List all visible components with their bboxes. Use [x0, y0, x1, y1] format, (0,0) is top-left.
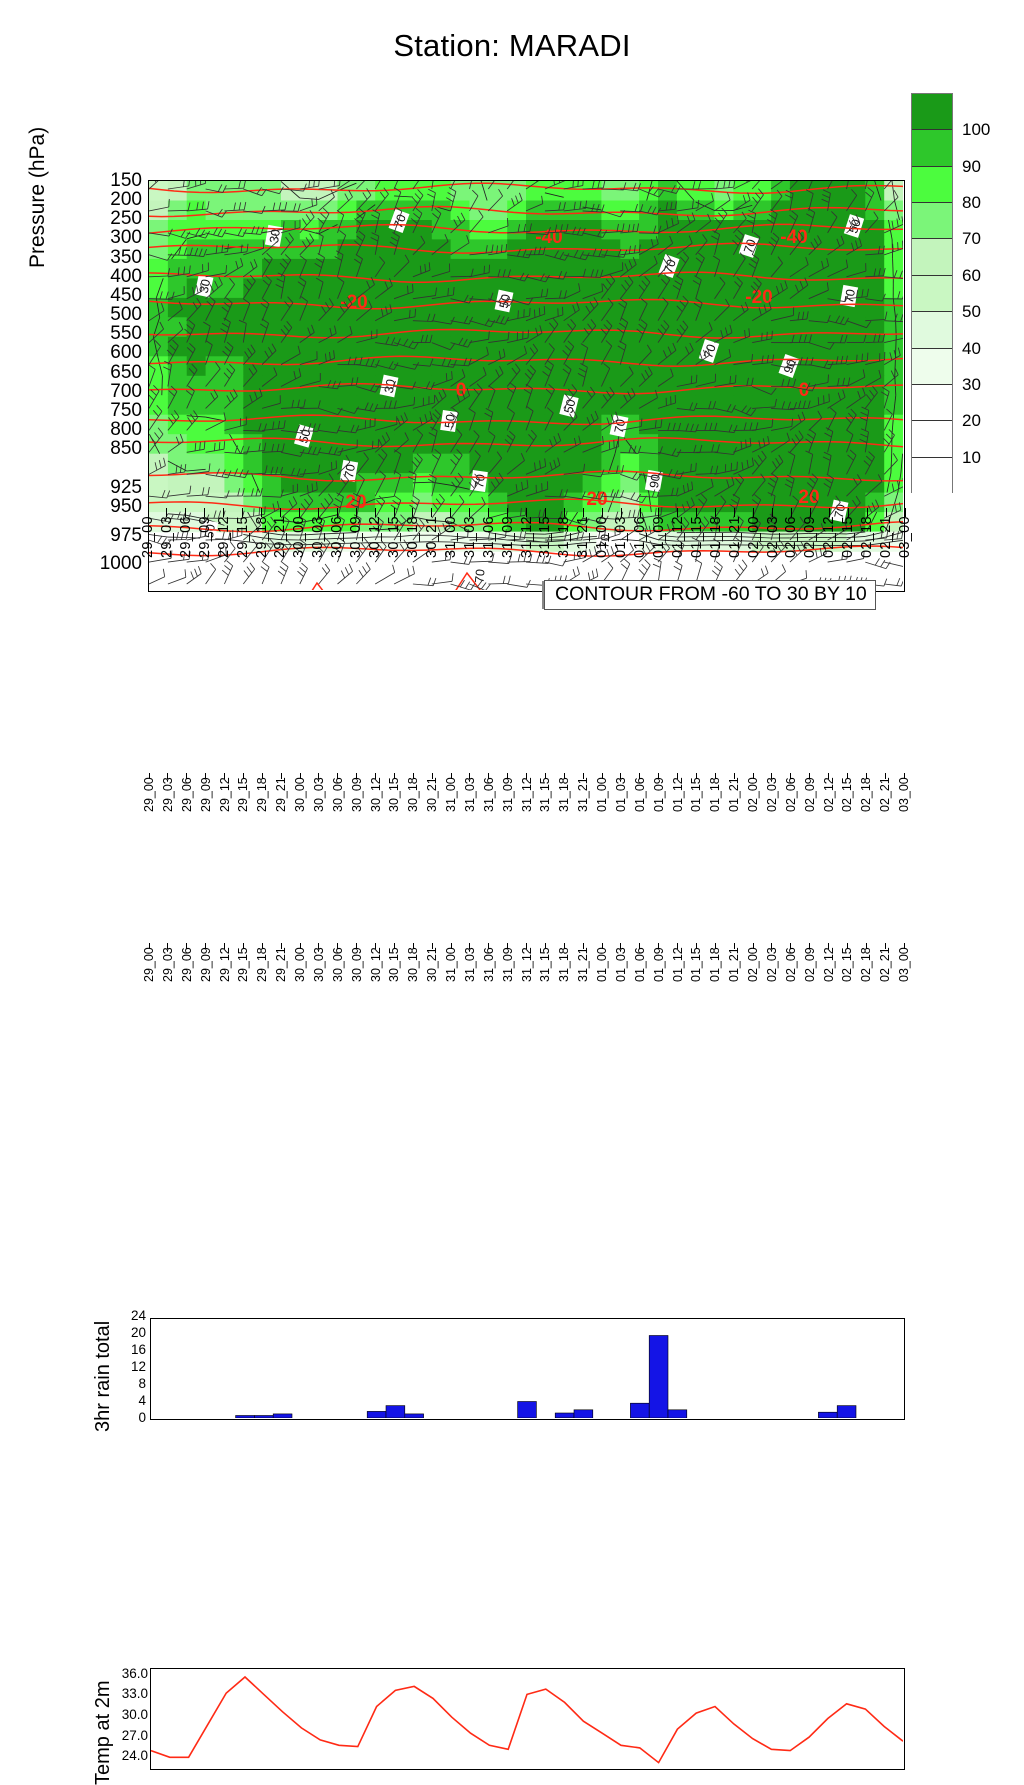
xsec-xtick-31_09: 31_09	[501, 508, 515, 559]
tick-label: 01_09	[652, 800, 666, 812]
tick-label: 30_09	[350, 970, 364, 982]
rain-xtick-02_12: 02_12	[823, 773, 835, 813]
colorbar-band-8	[912, 385, 952, 421]
tick-label: 03_00	[897, 970, 911, 982]
tick-label: 30_21	[425, 800, 439, 812]
rain-xtick-29_09: 29_09	[200, 773, 212, 813]
tick-label: 31_15	[538, 970, 552, 982]
rain-xtick-29_18: 29_18	[256, 773, 268, 813]
tick-label: 01_12	[671, 800, 685, 812]
temp-xtick-31_18: 31_18	[558, 943, 570, 983]
colorbar-band-0	[912, 94, 952, 130]
temp-xtick-02_09: 02_09	[804, 943, 816, 983]
colorbar-band-3	[912, 203, 952, 239]
rain-ytick-8: 8	[138, 1377, 146, 1391]
tick-label: 31_18	[557, 800, 571, 812]
xsec-xtick-02_00: 02_00	[747, 508, 761, 559]
pressure-tick-250: 250	[110, 209, 142, 228]
temp-xtick-30_09: 30_09	[351, 943, 363, 983]
xsec-xtick-01_18: 01_18	[709, 508, 723, 559]
tick-label: 01_03	[614, 800, 628, 812]
tick-label: 01_00	[595, 970, 609, 982]
temp-xtick-02_06: 02_06	[785, 943, 797, 983]
xsec-xtick-30_03: 30_03	[311, 508, 325, 559]
contour-caption: CONTOUR FROM -60 TO 30 BY 10	[544, 580, 876, 610]
svg-text:70: 70	[612, 418, 629, 435]
rain-xtick-31_00: 31_00	[445, 773, 457, 813]
xsec-xtick-30_12: 30_12	[368, 508, 382, 559]
pressure-tick-400: 400	[110, 267, 142, 286]
rain-xtick-02_18: 02_18	[860, 773, 872, 813]
tick-label: 02_06	[783, 544, 799, 558]
colorbar-label-10: 10	[962, 449, 981, 466]
rain-xtick-31_03: 31_03	[464, 773, 476, 813]
temp-xtick-02_00: 02_00	[747, 943, 759, 983]
rain-xtick-30_03: 30_03	[313, 773, 325, 813]
tick-label: 30_09	[348, 544, 364, 558]
tick-label: 02_18	[859, 800, 873, 812]
temp-xtick-30_00: 30_00	[294, 943, 306, 983]
xsec-xtick-01_15: 01_15	[690, 508, 704, 559]
rain-xtick-02_09: 02_09	[804, 773, 816, 813]
tick-label: 29_18	[255, 800, 269, 812]
rain-tick-labels: 24201612840	[110, 1316, 146, 1420]
temp-xtick-01_18: 01_18	[709, 943, 721, 983]
tick-label: 01_15	[689, 544, 705, 558]
rain-xtick-02_15: 02_15	[841, 773, 853, 813]
temp-xtick-29_06: 29_06	[181, 943, 193, 983]
temp-tick-labels: 36.033.030.027.024.0	[104, 1668, 148, 1772]
temp-xtick-02_12: 02_12	[823, 943, 835, 983]
rain-xtick-30_15: 30_15	[388, 773, 400, 813]
temp-xtick-01_21: 01_21	[728, 943, 740, 983]
xsec-xtick-02_15: 02_15	[841, 508, 855, 559]
colorbar-label-50: 50	[962, 303, 981, 320]
xsec-xtick-29_18: 29_18	[255, 508, 269, 559]
colorbar-label-100: 100	[962, 121, 990, 138]
colorbar-band-5	[912, 276, 952, 312]
pressure-tick-600: 600	[110, 343, 142, 362]
temp-xtick-29_09: 29_09	[200, 943, 212, 983]
colorbar-label-70: 70	[962, 230, 981, 247]
tick-label: 02_12	[822, 970, 836, 982]
temp-xtick-02_18: 02_18	[860, 943, 872, 983]
temp-xtick-30_21: 30_21	[426, 943, 438, 983]
rain-ytick-16: 16	[131, 1343, 146, 1357]
tick-label: 31_06	[481, 544, 497, 558]
temp-x-tick-labels: 29_0029_0329_0629_0929_1229_1529_1829_21…	[150, 943, 905, 1001]
colorbar	[911, 93, 953, 493]
colorbar-band-9	[912, 421, 952, 457]
tick-label: 30_15	[387, 970, 401, 982]
rain-xtick-30_12: 30_12	[370, 773, 382, 813]
tick-label: 01_00	[594, 544, 610, 558]
temp-xtick-31_15: 31_15	[539, 943, 551, 983]
svg-text:50: 50	[442, 413, 458, 429]
rain-xtick-02_00: 02_00	[747, 773, 759, 813]
tick-label: 30_06	[331, 970, 345, 982]
rain-xtick-31_09: 31_09	[502, 773, 514, 813]
tick-label: 30_06	[329, 544, 345, 558]
xsec-xtick-01_12: 01_12	[671, 508, 685, 559]
chart-page: Station: MARADI Pressure (hPa) 150200250…	[0, 0, 1024, 1024]
tick-label: 29_06	[180, 970, 194, 982]
tick-label: 02_15	[840, 800, 854, 812]
colorbar-band-4	[912, 239, 952, 275]
tick-label: 01_06	[632, 544, 648, 558]
temp-xtick-01_03: 01_03	[615, 943, 627, 983]
tick-label: 30_12	[369, 800, 383, 812]
tick-label: 30_15	[387, 800, 401, 812]
tick-label: 31_09	[501, 970, 515, 982]
tick-label: 29_00	[142, 800, 156, 812]
tick-label: 02_12	[822, 800, 836, 812]
tick-label: 01_12	[671, 970, 685, 982]
pressure-tick-800: 800	[110, 420, 142, 439]
xsec-xtick-31_18: 31_18	[557, 508, 571, 559]
temp-xtick-31_03: 31_03	[464, 943, 476, 983]
tick-label: 31_18	[557, 970, 571, 982]
tick-label: 02_15	[840, 544, 856, 558]
tick-label: 02_06	[784, 970, 798, 982]
xsec-xtick-29_12: 29_12	[217, 508, 231, 559]
xsec-xtick-30_18: 30_18	[406, 508, 420, 559]
pressure-tick-750: 750	[110, 401, 142, 420]
rain-xtick-02_21: 02_21	[879, 773, 891, 813]
xsec-xtick-02_03: 02_03	[766, 508, 780, 559]
temp-xtick-01_15: 01_15	[690, 943, 702, 983]
rain-xtick-29_12: 29_12	[219, 773, 231, 813]
tick-label: 31_18	[556, 544, 572, 558]
temp-ytick-33.0: 33.0	[122, 1687, 148, 1701]
tick-label: 01_21	[727, 970, 741, 982]
rain-xtick-29_15: 29_15	[237, 773, 249, 813]
xsec-xtick-31_12: 31_12	[520, 508, 534, 559]
tick-label: 30_03	[310, 544, 326, 558]
rain-xtick-01_12: 01_12	[672, 773, 684, 813]
tick-label: 30_18	[405, 544, 421, 558]
temp-xtick-29_18: 29_18	[256, 943, 268, 983]
tick-label: 29_00	[140, 544, 156, 558]
tick-label: 31_15	[538, 800, 552, 812]
rain-xtick-03_00: 03_00	[898, 773, 910, 813]
rain-xtick-29_21: 29_21	[275, 773, 287, 813]
temp-xtick-30_03: 30_03	[313, 943, 325, 983]
temp-xtick-29_00: 29_00	[143, 943, 155, 983]
tick-label: 01_09	[651, 544, 667, 558]
tick-label: 30_12	[367, 544, 383, 558]
temp-xtick-30_18: 30_18	[407, 943, 419, 983]
tick-label: 30_12	[369, 970, 383, 982]
pressure-tick-650: 650	[110, 363, 142, 382]
xsec-xtick-01_06: 01_06	[633, 508, 647, 559]
tick-label: 01_21	[727, 544, 743, 558]
tick-label: 03_00	[897, 800, 911, 812]
tick-label: 29_12	[218, 970, 232, 982]
tick-label: 02_09	[802, 544, 818, 558]
temp-xtick-29_12: 29_12	[219, 943, 231, 983]
xsec-xtick-03_00: 03_00	[898, 508, 912, 559]
pressure-tick-950: 950	[110, 497, 142, 516]
xsec-xtick-31_03: 31_03	[463, 508, 477, 559]
page-title: Station: MARADI	[0, 28, 1024, 64]
colorbar-band-1	[912, 130, 952, 166]
xsec-xtick-29_06: 29_06	[179, 508, 193, 559]
tick-label: 02_15	[840, 970, 854, 982]
tick-label: 01_18	[708, 544, 724, 558]
rain-xtick-01_09: 01_09	[653, 773, 665, 813]
rain-xtick-01_15: 01_15	[690, 773, 702, 813]
tick-label: 02_21	[878, 800, 892, 812]
temp-plot-area	[150, 1668, 905, 1770]
rain-xtick-29_06: 29_06	[181, 773, 193, 813]
tick-label: 01_15	[689, 800, 703, 812]
temp-xtick-31_00: 31_00	[445, 943, 457, 983]
temp-ytick-27.0: 27.0	[122, 1729, 148, 1743]
tick-label: 31_09	[501, 800, 515, 812]
tick-label: 01_18	[708, 800, 722, 812]
tick-label: 31_00	[444, 800, 458, 812]
tick-label: 29_03	[161, 970, 175, 982]
tick-label: 30_00	[293, 800, 307, 812]
tick-label: 30_03	[312, 800, 326, 812]
tick-label: 02_21	[878, 544, 894, 558]
svg-text:-20: -20	[745, 287, 772, 308]
colorbar-band-10	[912, 458, 952, 494]
tick-label: 02_00	[746, 970, 760, 982]
temp-xtick-31_12: 31_12	[521, 943, 533, 983]
tick-label: 31_03	[463, 800, 477, 812]
pressure-tick-350: 350	[110, 248, 142, 267]
tick-label: 29_09	[197, 544, 213, 558]
tick-label: 30_00	[291, 544, 307, 558]
temp-xtick-02_15: 02_15	[841, 943, 853, 983]
temp-xtick-29_21: 29_21	[275, 943, 287, 983]
tick-label: 29_09	[199, 800, 213, 812]
rain-xtick-31_12: 31_12	[521, 773, 533, 813]
xsec-xtick-31_06: 31_06	[482, 508, 496, 559]
colorbar-band-2	[912, 167, 952, 203]
rain-xtick-01_00: 01_00	[596, 773, 608, 813]
tick-label: 30_18	[406, 970, 420, 982]
xsec-xtick-01_03: 01_03	[614, 508, 628, 559]
rain-xtick-01_06: 01_06	[634, 773, 646, 813]
rain-ytick-4: 4	[138, 1394, 146, 1408]
tick-label: 31_03	[463, 970, 477, 982]
tick-label: 31_09	[500, 544, 516, 558]
temp-xtick-30_12: 30_12	[370, 943, 382, 983]
tick-label: 31_00	[444, 970, 458, 982]
tick-label: 01_12	[670, 544, 686, 558]
tick-label: 29_12	[216, 544, 232, 558]
tick-label: 02_00	[746, 800, 760, 812]
pressure-tick-300: 300	[110, 228, 142, 247]
tick-label: 02_03	[765, 800, 779, 812]
rain-xtick-30_06: 30_06	[332, 773, 344, 813]
temp-xtick-29_03: 29_03	[162, 943, 174, 983]
tick-label: 01_21	[727, 800, 741, 812]
tick-label: 01_09	[652, 970, 666, 982]
rain-xtick-02_03: 02_03	[766, 773, 778, 813]
colorbar-label-90: 90	[962, 158, 981, 175]
temp-xtick-01_09: 01_09	[653, 943, 665, 983]
temp-xtick-29_15: 29_15	[237, 943, 249, 983]
tick-label: 30_09	[350, 800, 364, 812]
tick-label: 31_12	[520, 800, 534, 812]
tick-label: 31_06	[482, 970, 496, 982]
pressure-tick-1000: 1000	[100, 554, 142, 573]
tick-label: 31_12	[520, 970, 534, 982]
cross-section-panel: Pressure (hPa) 1502002503003504004505005…	[0, 88, 1024, 518]
rain-xtick-01_21: 01_21	[728, 773, 740, 813]
rain-ytick-0: 0	[138, 1411, 146, 1425]
colorbar-label-20: 20	[962, 412, 981, 429]
tick-label: 01_06	[633, 800, 647, 812]
temp-xtick-01_12: 01_12	[672, 943, 684, 983]
tick-label: 29_15	[236, 800, 250, 812]
tick-label: 02_12	[821, 544, 837, 558]
pressure-tick-925: 925	[110, 478, 142, 497]
pressure-tick-500: 500	[110, 305, 142, 324]
rain-xtick-30_09: 30_09	[351, 773, 363, 813]
xsec-xtick-31_00: 31_00	[444, 508, 458, 559]
temp-xtick-01_06: 01_06	[634, 943, 646, 983]
xsec-xtick-02_09: 02_09	[803, 508, 817, 559]
rain-ytick-20: 20	[131, 1326, 146, 1340]
xsec-xtick-02_12: 02_12	[822, 508, 836, 559]
svg-text:20: 20	[586, 489, 607, 510]
rain-ytick-12: 12	[131, 1360, 146, 1374]
pressure-tick-labels: 1502002503003504004505005506006507007508…	[80, 176, 142, 596]
tick-label: 30_06	[331, 800, 345, 812]
xsec-xtick-30_00: 30_00	[292, 508, 306, 559]
tick-label: 29_00	[142, 970, 156, 982]
xsec-xtick-02_21: 02_21	[879, 508, 893, 559]
tick-label: 29_15	[235, 544, 251, 558]
tick-label: 01_18	[708, 970, 722, 982]
pressure-tick-450: 450	[110, 286, 142, 305]
tick-label: 29_03	[159, 544, 175, 558]
rain-xtick-01_03: 01_03	[615, 773, 627, 813]
cross-section-x-tick-labels: 29_0029_0329_0629_0929_1229_1529_1829_21…	[148, 508, 905, 580]
colorbar-label-40: 40	[962, 340, 981, 357]
tick-label: 29_09	[199, 970, 213, 982]
temp-ytick-30.0: 30.0	[122, 1708, 148, 1722]
rain-xtick-01_18: 01_18	[709, 773, 721, 813]
temp-ytick-36.0: 36.0	[122, 1667, 148, 1681]
tick-label: 03_00	[897, 544, 913, 558]
pressure-tick-200: 200	[110, 190, 142, 209]
temp-xtick-30_06: 30_06	[332, 943, 344, 983]
temp-xtick-31_06: 31_06	[483, 943, 495, 983]
tick-label: 29_06	[180, 800, 194, 812]
xsec-xtick-29_15: 29_15	[236, 508, 250, 559]
tick-label: 29_15	[236, 970, 250, 982]
xsec-xtick-01_21: 01_21	[728, 508, 742, 559]
tick-label: 02_09	[803, 970, 817, 982]
tick-label: 29_06	[178, 544, 194, 558]
rain-xtick-30_21: 30_21	[426, 773, 438, 813]
svg-text:70: 70	[342, 463, 358, 479]
rain-xtick-31_18: 31_18	[558, 773, 570, 813]
tick-label: 02_21	[878, 970, 892, 982]
rain-xtick-31_21: 31_21	[577, 773, 589, 813]
tick-label: 02_03	[765, 970, 779, 982]
temp-xtick-01_00: 01_00	[596, 943, 608, 983]
xsec-xtick-31_15: 31_15	[538, 508, 552, 559]
temp-xtick-31_21: 31_21	[577, 943, 589, 983]
tick-label: 31_21	[576, 970, 590, 982]
rain-xtick-29_03: 29_03	[162, 773, 174, 813]
xsec-xtick-30_06: 30_06	[330, 508, 344, 559]
temp-xtick-02_21: 02_21	[879, 943, 891, 983]
pressure-tick-150: 150	[110, 171, 142, 190]
pressure-tick-850: 850	[110, 439, 142, 458]
rain-x-tick-labels: 29_0029_0329_0629_0929_1229_1529_1829_21…	[150, 773, 905, 831]
tick-label: 29_18	[255, 970, 269, 982]
temp-xtick-31_09: 31_09	[502, 943, 514, 983]
tick-label: 31_12	[519, 544, 535, 558]
colorbar-band-6	[912, 312, 952, 348]
pressure-axis-label: Pressure (hPa)	[26, 127, 50, 268]
xsec-xtick-31_21: 31_21	[576, 508, 590, 559]
tick-label: 02_06	[784, 800, 798, 812]
tick-label: 30_18	[406, 800, 420, 812]
pressure-tick-700: 700	[110, 382, 142, 401]
rain-xtick-31_06: 31_06	[483, 773, 495, 813]
xsec-xtick-02_06: 02_06	[784, 508, 798, 559]
tick-label: 31_03	[462, 544, 478, 558]
xsec-xtick-29_00: 29_00	[141, 508, 155, 559]
colorbar-label-80: 80	[962, 194, 981, 211]
xsec-xtick-01_00: 01_00	[595, 508, 609, 559]
tick-label: 02_03	[765, 544, 781, 558]
rain-ytick-24: 24	[131, 1309, 146, 1323]
colorbar-label-30: 30	[962, 376, 981, 393]
tick-label: 31_21	[576, 800, 590, 812]
xsec-xtick-29_09: 29_09	[198, 508, 212, 559]
tick-label: 29_12	[218, 800, 232, 812]
tick-label: 01_06	[633, 970, 647, 982]
temp-xtick-03_00: 03_00	[898, 943, 910, 983]
tick-label: 02_09	[803, 800, 817, 812]
svg-text:90: 90	[647, 473, 663, 489]
xsec-xtick-30_09: 30_09	[349, 508, 363, 559]
tick-label: 31_15	[537, 544, 553, 558]
tick-label: 30_00	[293, 970, 307, 982]
rain-xtick-02_06: 02_06	[785, 773, 797, 813]
tick-label: 29_03	[161, 800, 175, 812]
rain-plot-area	[150, 1318, 905, 1420]
rain-xtick-31_15: 31_15	[539, 773, 551, 813]
tick-label: 01_03	[613, 544, 629, 558]
temp-xtick-30_15: 30_15	[388, 943, 400, 983]
xsec-xtick-29_03: 29_03	[160, 508, 174, 559]
tick-label: 30_21	[425, 970, 439, 982]
tick-label: 31_06	[482, 800, 496, 812]
colorbar-label-60: 60	[962, 267, 981, 284]
tick-label: 29_21	[272, 544, 288, 558]
tick-label: 01_03	[614, 970, 628, 982]
pressure-tick-550: 550	[110, 324, 142, 343]
temp-xtick-02_03: 02_03	[766, 943, 778, 983]
rain-xtick-30_00: 30_00	[294, 773, 306, 813]
tick-label: 30_21	[424, 544, 440, 558]
tick-label: 02_00	[746, 544, 762, 558]
rain-xtick-30_18: 30_18	[407, 773, 419, 813]
tick-label: 29_18	[254, 544, 270, 558]
tick-label: 01_15	[689, 970, 703, 982]
